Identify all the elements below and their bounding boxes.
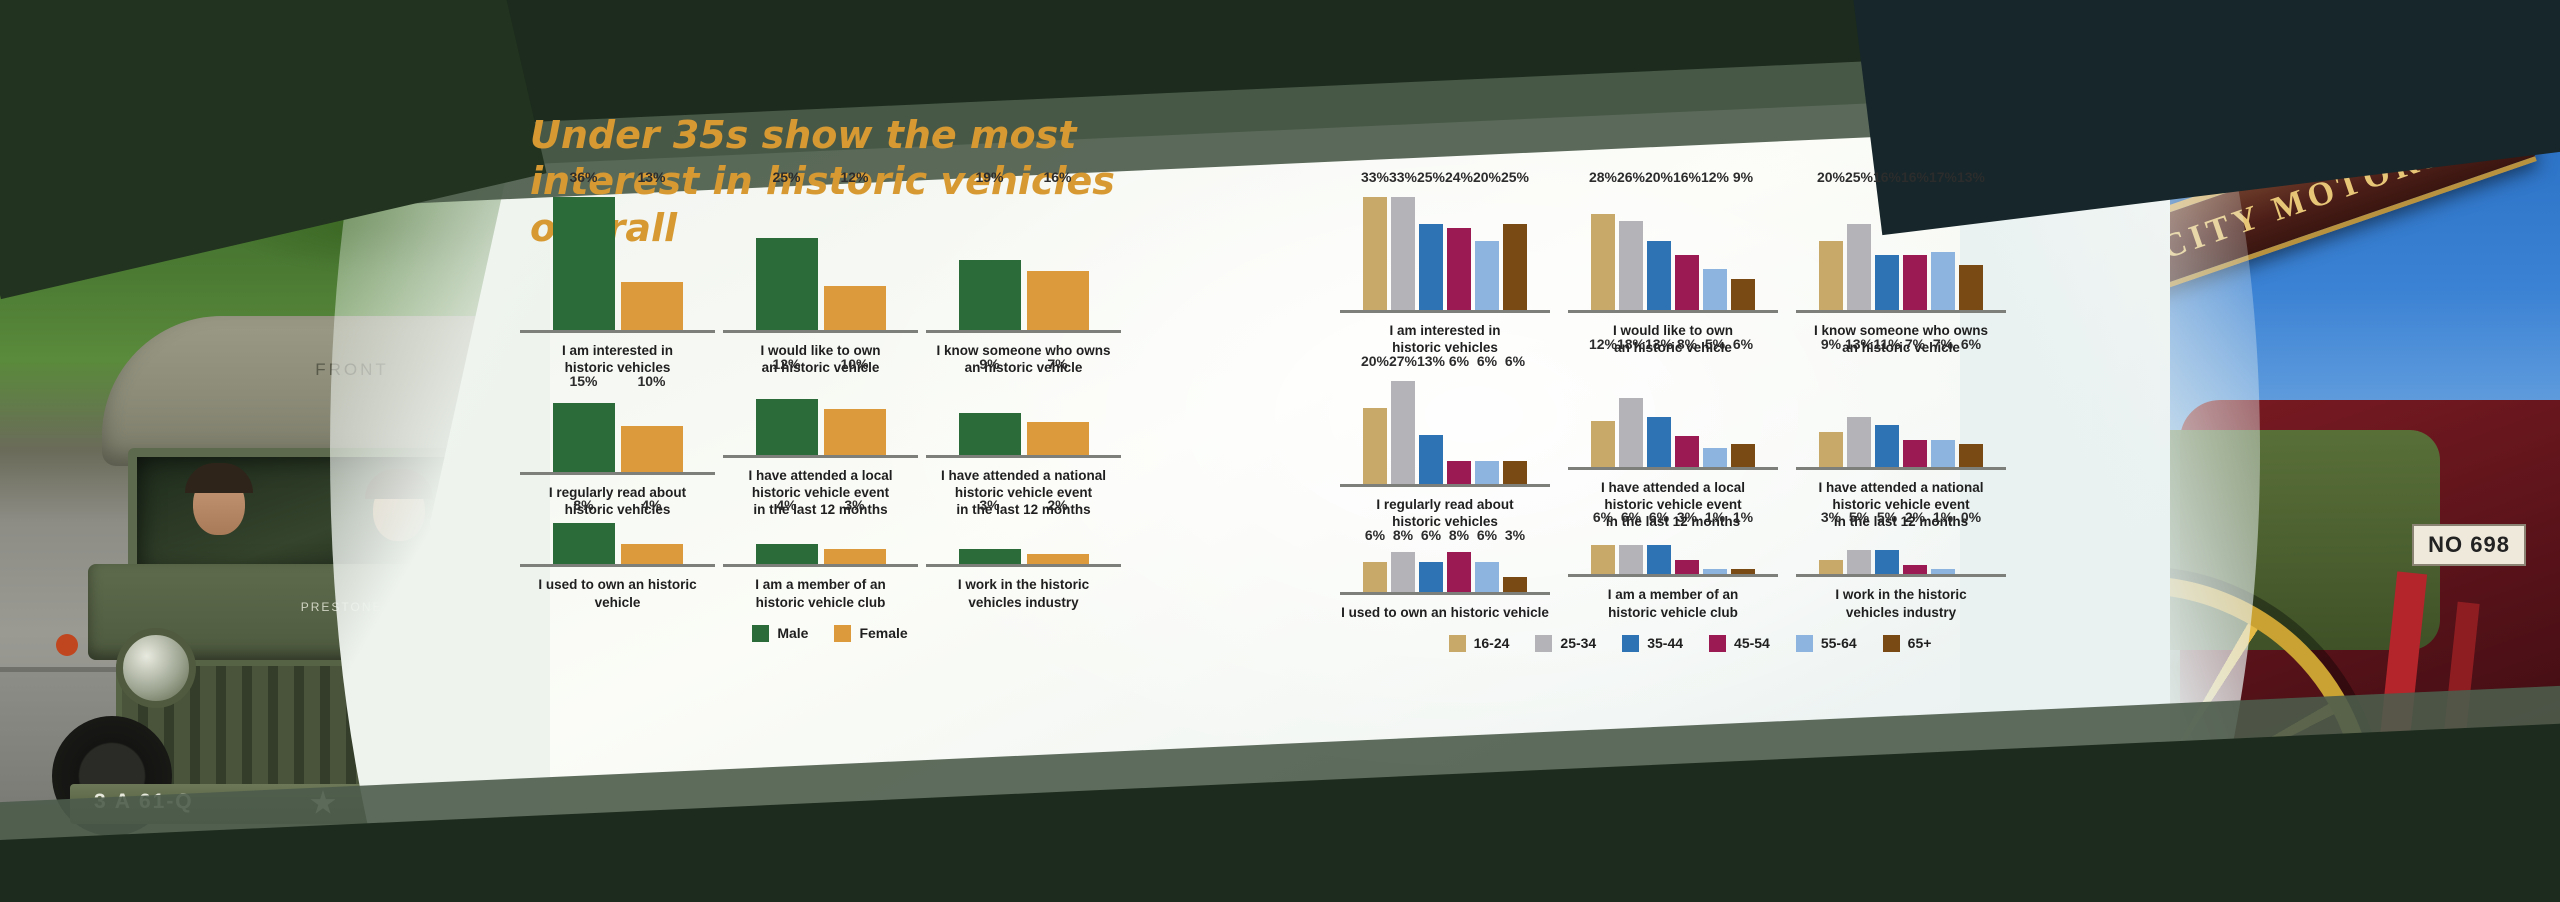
bar-value-label: 13% [637,169,665,185]
bar-rect: 16% [1027,271,1089,330]
bar-value-label: 6% [1961,336,1981,352]
legend-label: 25-34 [1560,635,1596,651]
bar-rect: 13% [1847,417,1871,466]
bar-65+: 6% [1959,357,1983,467]
age-chart: 20%25%16%16%17%13%I know someone who own… [1796,190,2006,357]
bar-35-44: 25% [1419,190,1443,310]
chart-category-label: I know someone who ownsan historic vehic… [926,342,1121,377]
age-chart: 6%6%6%3%1%1%I am a member of anhistoric … [1568,530,1778,621]
bar-rect: 1% [1731,569,1755,574]
bar-rect: 25% [1847,224,1871,310]
chart-axis-line [926,564,1121,567]
chart-plot-area: 9%13%11%7%7%6% [1796,357,2006,467]
driver-face [193,473,245,535]
chart-plot-area: 6%8%6%8%6%3% [1340,548,1550,592]
bar-value-label: 1% [1933,509,1953,525]
bar-value-label: 3% [1505,527,1525,543]
gender-chart-row-1: 36%13%I am interested inhistoric vehicle… [520,190,1140,377]
bar-value-label: 6% [1421,527,1441,543]
bar-value-label: 3% [1677,509,1697,525]
bar-value-label: 8% [1677,336,1697,352]
chart-plot-area: 20%27%13%6%6%6% [1340,374,1550,484]
bar-rect: 8% [553,523,615,564]
bar-rect: 7% [1903,440,1927,467]
bar-16-24: 9% [1819,357,1843,467]
bar-value-label: 9% [979,356,999,372]
bar-rect: 3% [1503,577,1527,592]
bar-value-label: 10% [840,356,868,372]
bar-female: 3% [824,518,886,564]
age-chart: 3%5%5%2%1%0%I work in the historicvehicl… [1796,530,2006,621]
legend-label: 55-64 [1821,635,1857,651]
bar-rect: 2% [1903,565,1927,575]
bar-value-label: 20% [1817,169,1845,185]
bar-rect: 4% [621,544,683,564]
bar-value-label: 13% [1845,336,1873,352]
bar-value-label: 27% [1389,353,1417,369]
bar-rect: 6% [1475,461,1499,484]
chart-axis-line [520,330,715,333]
bar-value-label: 16% [1673,169,1701,185]
bar-rect: 3% [824,549,886,564]
chart-axis-line [1340,592,1550,595]
chart-category-label: I have attended a localhistoric vehicle … [723,467,918,519]
gender-chart: 12%10%I have attended a localhistoric ve… [723,377,918,519]
bar-value-label: 24% [1445,169,1473,185]
bar-rect: 6% [1475,562,1499,591]
legend-label: 45-54 [1734,635,1770,651]
bar-value-label: 17% [1929,169,1957,185]
chart-plot-area: 8%4% [520,518,715,564]
bar-16-24: 20% [1819,190,1843,310]
legend-swatch-icon [834,625,851,642]
bar-value-label: 6% [1649,509,1669,525]
bar-value-label: 4% [641,497,661,513]
bar-16-24: 20% [1363,374,1387,484]
bar-value-label: 6% [1477,353,1497,369]
chart-category-label: I am a member of anhistoric vehicle club [723,576,918,611]
bar-rect: 7% [1027,422,1089,454]
bar-16-24: 3% [1819,530,1843,574]
bar-rect: 17% [1931,252,1955,310]
bar-25-34: 26% [1619,190,1643,310]
bar-65+: 0% [1959,530,1983,574]
bar-female: 12% [824,190,886,330]
chart-plot-area: 28%26%20%16%12%9% [1568,190,1778,310]
bar-rect: 13% [621,282,683,330]
legend-label: 35-44 [1647,635,1683,651]
gender-chart: 36%13%I am interested inhistoric vehicle… [520,190,715,377]
age-chart: 28%26%20%16%12%9%I would like to ownan h… [1568,190,1778,357]
bar-rect: 8% [1447,552,1471,591]
chart-category-label: I have attended a nationalhistoric vehic… [926,467,1121,519]
bar-16-24: 28% [1591,190,1615,310]
legend-label: Female [859,625,907,641]
bar-55-64: 20% [1475,190,1499,310]
legend-swatch-icon [752,625,769,642]
gender-chart: 19%16%I know someone who ownsan historic… [926,190,1121,377]
chart-category-label: I work in the historicvehicles industry [926,576,1121,611]
bar-female: 16% [1027,190,1089,330]
legend-swatch-icon [1622,635,1639,652]
bar-65+: 3% [1503,548,1527,592]
bar-female: 7% [1027,377,1089,455]
bar-rect: 3% [1819,560,1843,575]
bar-rect: 2% [1027,554,1089,564]
bar-rect: 18% [1619,398,1643,466]
age-chart-row-3: 6%8%6%8%6%3%I used to own an historic ve… [1340,530,2040,621]
bar-rect: 9% [1819,432,1843,466]
bar-value-label: 7% [1047,356,1067,372]
bar-value-label: 2% [1905,509,1925,525]
gender-chart: 8%4%I used to own an historic vehicle [520,518,715,611]
bar-rect: 9% [959,413,1021,454]
bar-male: 19% [959,190,1021,330]
bar-25-34: 33% [1391,190,1415,310]
bar-rect: 6% [1647,545,1671,574]
chart-axis-line [723,455,918,458]
chart-axis-line [1568,467,1778,470]
bar-value-label: 3% [1821,509,1841,525]
bar-value-label: 25% [1845,169,1873,185]
age-chart-row-1: 33%33%25%24%20%25%I am interested inhist… [1340,190,2040,357]
bar-rect: 33% [1391,197,1415,310]
bar-35-44: 13% [1419,374,1443,484]
bar-rect: 3% [1675,560,1699,575]
bar-55-64: 1% [1931,530,1955,574]
bar-45-54: 8% [1675,357,1699,467]
chart-axis-line [1796,574,2006,577]
bar-value-label: 25% [1501,169,1529,185]
gender-chart: 4%3%I am a member of anhistoric vehicle … [723,518,918,611]
chart-axis-line [520,564,715,567]
bar-rect: 8% [1391,552,1415,591]
age-legend: 16-2425-3435-4445-5455-6465+ [1340,635,2040,652]
bar-value-label: 6% [1365,527,1385,543]
chart-axis-line [520,472,715,475]
bar-value-label: 5% [1877,509,1897,525]
legend-swatch-icon [1883,635,1900,652]
bar-value-label: 2% [1047,497,1067,513]
chart-axis-line [926,455,1121,458]
chart-category-label: I am interested inhistoric vehicles [1340,322,1550,357]
bar-rect: 6% [1591,545,1615,574]
reflector-icon [56,634,78,656]
bar-rect: 6% [1503,461,1527,484]
bar-rect: 3% [959,549,1021,564]
chart-axis-line [1796,467,2006,470]
age-chart: 20%27%13%6%6%6%I regularly read abouthis… [1340,374,1550,531]
bar-rect: 15% [553,403,615,472]
bar-45-54: 3% [1675,530,1699,574]
gender-chart: 9%7%I have attended a nationalhistoric v… [926,377,1121,519]
bar-35-44: 16% [1875,190,1899,310]
bar-rect: 6% [1731,444,1755,467]
bar-rect: 10% [621,426,683,472]
bar-rect: 20% [1363,408,1387,484]
bar-35-44: 20% [1647,190,1671,310]
legend-swatch-icon [1709,635,1726,652]
bar-value-label: 6% [1733,336,1753,352]
legend-swatch-icon [1449,635,1466,652]
chart-axis-line [926,330,1121,333]
bar-55-64: 17% [1931,190,1955,310]
bar-value-label: 13% [1645,336,1673,352]
chart-axis-line [1568,310,1778,313]
bar-female: 10% [824,377,886,455]
age-legend-item[interactable]: 25-34 [1535,635,1596,652]
bar-16-24: 6% [1363,548,1387,592]
bar-value-label: 25% [772,169,800,185]
bar-rect: 13% [1647,417,1671,466]
bar-female: 13% [621,190,683,330]
bar-rect: 20% [1819,241,1843,310]
bar-value-label: 3% [844,497,864,513]
bar-rect: 28% [1591,214,1615,310]
bar-rect: 36% [553,197,615,330]
chart-plot-area: 12%10% [723,377,918,455]
gender-chart: 15%10%I regularly read abouthistoric veh… [520,394,715,519]
bar-value-label: 9% [1733,169,1753,185]
age-legend-item[interactable]: 45-54 [1709,635,1770,652]
bar-value-label: 33% [1361,169,1389,185]
bar-55-64: 5% [1703,357,1727,467]
bar-55-64: 1% [1703,530,1727,574]
bar-value-label: 16% [1901,169,1929,185]
bar-25-34: 25% [1847,190,1871,310]
bar-value-label: 4% [776,497,796,513]
bar-value-label: 13% [1957,169,1985,185]
bar-16-24: 12% [1591,357,1615,467]
bar-25-34: 5% [1847,530,1871,574]
chart-plot-area: 4%3% [723,518,918,564]
bar-female: 4% [621,518,683,564]
bar-value-label: 8% [1449,527,1469,543]
bar-65+: 25% [1503,190,1527,310]
chart-category-label: I used to own an historic vehicle [1340,604,1550,621]
bar-rect: 33% [1363,197,1387,310]
bar-value-label: 0% [1961,509,1981,525]
bar-female: 2% [1027,518,1089,564]
bar-25-34: 8% [1391,548,1415,592]
bar-value-label: 11% [1873,336,1900,352]
bar-rect: 6% [1363,562,1387,591]
bar-value-label: 5% [1849,509,1869,525]
bar-value-label: 5% [1705,336,1725,352]
gender-charts-section: 36%13%I am interested inhistoric vehicle… [520,190,1140,642]
bar-rect: 5% [1703,448,1727,467]
chart-plot-area: 25%12% [723,190,918,330]
bar-value-label: 12% [1589,336,1617,352]
age-chart-row-2: 20%27%13%6%6%6%I regularly read abouthis… [1340,357,2040,531]
chart-axis-line [723,564,918,567]
bar-45-54: 6% [1447,374,1471,484]
chart-category-label: I regularly read abouthistoric vehicles [1340,496,1550,531]
bar-value-label: 6% [1621,509,1641,525]
bar-value-label: 7% [1905,336,1925,352]
bar-65+: 13% [1959,190,1983,310]
bar-male: 8% [553,518,615,564]
bar-value-label: 12% [1701,169,1729,185]
bar-value-label: 6% [1477,527,1497,543]
bar-rect: 25% [1419,224,1443,310]
bar-45-54: 7% [1903,357,1927,467]
chart-plot-area: 9%7% [926,377,1121,455]
bar-rect: 16% [1875,255,1899,310]
bar-25-34: 6% [1619,530,1643,574]
bar-55-64: 12% [1703,190,1727,310]
bar-rect: 6% [1619,545,1643,574]
age-chart: 9%13%11%7%7%6%I have attended a national… [1796,357,2006,531]
bar-rect: 11% [1875,425,1899,467]
bar-value-label: 26% [1617,169,1645,185]
bar-rect: 7% [1931,440,1955,467]
bar-rect: 25% [1503,224,1527,310]
bar-value-label: 20% [1361,353,1389,369]
bar-rect: 27% [1391,381,1415,483]
bar-rect: 5% [1847,550,1871,574]
bar-value-label: 15% [569,373,597,389]
bar-rect: 12% [1591,421,1615,467]
bar-rect: 12% [1703,269,1727,310]
chart-category-label: I am a member of anhistoric vehicle club [1568,586,1778,621]
bar-rect: 12% [824,286,886,330]
bar-rect: 1% [1703,569,1727,574]
bar-value-label: 1% [1733,509,1753,525]
age-legend-item[interactable]: 65+ [1883,635,1932,652]
chart-plot-area: 15%10% [520,394,715,472]
legend-label: 16-24 [1474,635,1510,651]
chart-plot-area: 3%5%5%2%1%0% [1796,530,2006,574]
bar-value-label: 7% [1933,336,1953,352]
bar-male: 12% [756,377,818,455]
age-legend-item[interactable]: 55-64 [1796,635,1857,652]
bar-55-64: 6% [1475,374,1499,484]
bar-65+: 6% [1731,357,1755,467]
bar-rect: 8% [1675,436,1699,466]
bar-45-54: 16% [1675,190,1699,310]
bar-35-44: 6% [1647,530,1671,574]
bar-male: 4% [756,518,818,564]
bar-male: 3% [959,518,1021,564]
bar-female: 10% [621,394,683,472]
bar-male: 9% [959,377,1021,455]
bar-value-label: 19% [975,169,1003,185]
bar-value-label: 6% [1449,353,1469,369]
bar-male: 36% [553,190,615,330]
bar-value-label: 25% [1417,169,1445,185]
bar-35-44: 13% [1647,357,1671,467]
age-charts-section: 33%33%25%24%20%25%I am interested inhist… [1340,190,2040,652]
legend-label: Male [777,625,808,641]
bar-45-54: 16% [1903,190,1927,310]
bar-55-64: 7% [1931,357,1955,467]
bar-rect: 13% [1959,265,1983,310]
headlamp-left-icon [116,628,196,708]
bar-rect: 13% [1419,435,1443,484]
bar-rect: 25% [756,238,818,330]
age-legend-item[interactable]: 16-24 [1449,635,1510,652]
bar-value-label: 9% [1821,336,1841,352]
bar-25-34: 13% [1847,357,1871,467]
bar-16-24: 6% [1591,530,1615,574]
chart-plot-area: 20%25%16%16%17%13% [1796,190,2006,310]
bar-value-label: 33% [1389,169,1417,185]
bar-55-64: 6% [1475,548,1499,592]
age-chart: 6%8%6%8%6%3%I used to own an historic ve… [1340,548,1550,621]
chart-plot-area: 12%18%13%8%5%6% [1568,357,1778,467]
gender-legend-item[interactable]: Male [752,625,808,642]
bar-rect: 16% [1675,255,1699,310]
gender-legend-item[interactable]: Female [834,625,907,642]
chart-axis-line [1568,574,1778,577]
bar-value-label: 36% [569,169,597,185]
gender-legend: MaleFemale [520,625,1140,642]
bar-value-label: 20% [1645,169,1673,185]
bar-value-label: 10% [637,373,665,389]
chart-plot-area: 33%33%25%24%20%25% [1340,190,1550,310]
legend-swatch-icon [1535,635,1552,652]
bar-rect: 6% [1419,562,1443,591]
bar-25-34: 18% [1619,357,1643,467]
bar-rect: 9% [1731,279,1755,310]
bar-value-label: 6% [1505,353,1525,369]
bar-rect: 6% [1959,444,1983,467]
legend-label: 65+ [1908,635,1932,651]
bar-45-54: 8% [1447,548,1471,592]
bar-rect: 5% [1875,550,1899,574]
bar-male: 15% [553,394,615,472]
bar-male: 25% [756,190,818,330]
bar-rect: 10% [824,409,886,455]
gender-chart: 25%12%I would like to ownan historic veh… [723,190,918,377]
bar-rect: 26% [1619,221,1643,310]
bar-35-44: 11% [1875,357,1899,467]
bar-rect: 20% [1647,241,1671,310]
chart-plot-area: 3%2% [926,518,1121,564]
engine-number-plate: NO 698 [2412,524,2526,566]
bar-rect: 19% [959,260,1021,330]
bar-rect: 6% [1447,461,1471,484]
infographic-content: Under 35s show the most interest in hist… [520,0,2150,902]
bar-65+: 9% [1731,190,1755,310]
bar-value-label: 18% [1617,336,1645,352]
gender-chart-row-3: 8%4%I used to own an historic vehicle4%3… [520,518,1140,611]
bar-16-24: 33% [1363,190,1387,310]
bar-value-label: 6% [1593,509,1613,525]
bar-rect: 20% [1475,241,1499,310]
bar-rect: 16% [1903,255,1927,310]
bar-rect: 1% [1931,569,1955,574]
bar-rect: 12% [756,399,818,454]
bar-value-label: 8% [1393,527,1413,543]
chart-category-label: I work in the historicvehicles industry [1796,586,2006,621]
chart-plot-area: 19%16% [926,190,1121,330]
bar-35-44: 5% [1875,530,1899,574]
bar-value-label: 28% [1589,169,1617,185]
bar-45-54: 2% [1903,530,1927,574]
age-legend-item[interactable]: 35-44 [1622,635,1683,652]
bar-rect: 24% [1447,228,1471,310]
chart-axis-line [1340,310,1550,313]
bar-35-44: 6% [1419,548,1443,592]
bar-value-label: 16% [1043,169,1071,185]
chart-category-label: I am interested inhistoric vehicles [520,342,715,377]
bar-value-label: 16% [1873,169,1901,185]
jeep-plate-left: 3 A 61-Q [94,790,194,814]
chart-axis-line [1340,484,1550,487]
bar-value-label: 8% [573,497,593,513]
